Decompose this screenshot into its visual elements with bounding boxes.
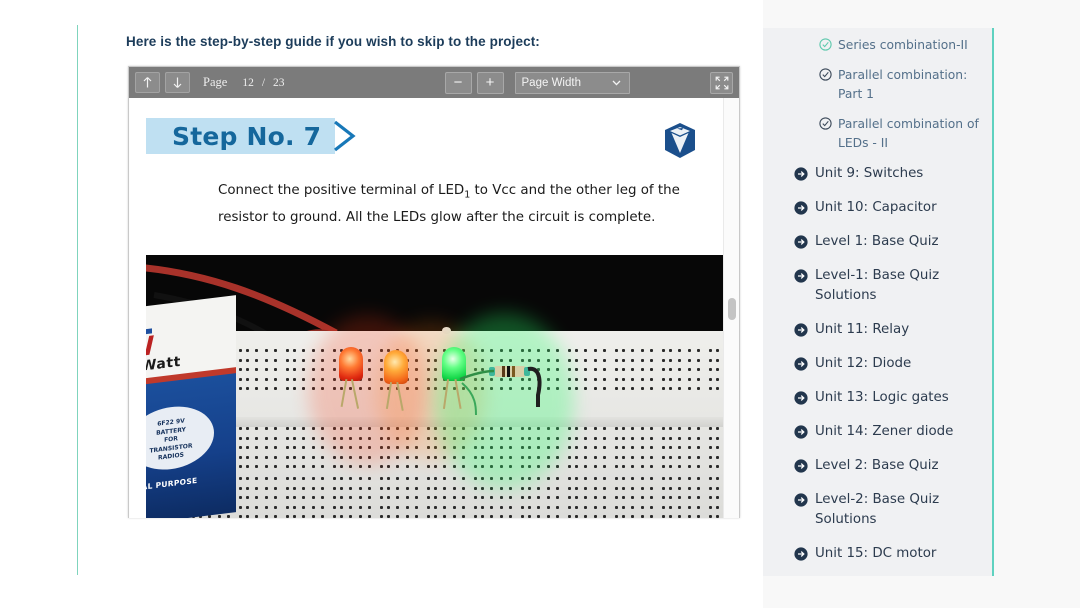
total-page-count: 23 (273, 77, 285, 89)
sidebar-unit-item-9[interactable]: Level-2: Base Quiz Solutions (763, 490, 992, 530)
sidebar-subitem-1[interactable]: Parallel combination: Part 1 (763, 66, 992, 104)
pdf-toolbar: Page 12 / 23 − + Page Width (129, 67, 739, 98)
chevron-right-icon (333, 118, 363, 154)
sidebar-unit-label: Level-2: Base Quiz Solutions (815, 490, 978, 530)
sidebar-unit-item-6[interactable]: Unit 13: Logic gates (763, 388, 992, 408)
page-separator: / (262, 77, 265, 89)
check-circle-icon (819, 68, 832, 81)
sidebar-unit-label: Unit 12: Diode (815, 354, 911, 374)
course-outline-sidebar[interactable]: Series combination-IIParallel combinatio… (763, 28, 994, 576)
check-circle-icon (819, 117, 832, 130)
arrow-right-circle-icon (794, 201, 808, 215)
step-description: Connect the positive terminal of LED1 to… (218, 180, 688, 229)
sidebar-unit-item-2[interactable]: Level 1: Base Quiz (763, 232, 992, 252)
left-accent-rule (77, 25, 78, 575)
arrow-right-circle-icon (794, 235, 808, 249)
arrow-right-circle-icon (794, 425, 808, 439)
sidebar-unit-label: Unit 10: Capacitor (815, 198, 937, 218)
arrow-right-circle-icon (794, 391, 808, 405)
zoom-level-select[interactable]: Page Width (515, 72, 630, 94)
sidebar-unit-item-7[interactable]: Unit 14: Zener diode (763, 422, 992, 442)
sidebar-unit-item-5[interactable]: Unit 12: Diode (763, 354, 992, 374)
page-label: Page (203, 75, 227, 90)
sidebar-unit-item-8[interactable]: Level 2: Base Quiz (763, 456, 992, 476)
next-page-button[interactable] (165, 72, 190, 93)
fullscreen-button[interactable] (710, 72, 733, 94)
breadboard-photo: W i-Watt 6F22 9V BATTERY FOR TRANSISTOR … (146, 255, 724, 518)
step-title: Step No. 7 (172, 122, 321, 151)
arrow-right-circle-icon (794, 323, 808, 337)
sidebar-unit-label: Unit 15: DC motor (815, 544, 936, 564)
sidebar-unit-label: Unit 11: Relay (815, 320, 909, 340)
sidebar-unit-item-3[interactable]: Level-1: Base Quiz Solutions (763, 266, 992, 306)
previous-page-button[interactable] (135, 72, 160, 93)
step-description-prefix: Connect the positive terminal of LED (218, 183, 464, 198)
zoom-in-button[interactable]: + (477, 72, 504, 94)
sidebar-subitem-label: Parallel combination: Part 1 (838, 66, 980, 104)
chevron-down-icon (612, 78, 621, 88)
sidebar-unit-item-0[interactable]: Unit 9: Switches (763, 164, 992, 184)
pdf-viewer: Page 12 / 23 − + Page Width (128, 66, 740, 518)
battery-9v: W i-Watt 6F22 9V BATTERY FOR TRANSISTOR … (146, 295, 236, 518)
cube-logo (663, 122, 697, 159)
sidebar-subitem-0[interactable]: Series combination-II (763, 36, 992, 55)
current-page-number[interactable]: 12 (242, 77, 254, 89)
arrow-right-circle-icon (794, 357, 808, 371)
pdf-scrollbar[interactable] (723, 98, 739, 518)
sidebar-unit-item-10[interactable]: Unit 15: DC motor (763, 544, 992, 564)
sidebar-subitem-2[interactable]: Parallel combination of LEDs - II (763, 115, 992, 153)
pdf-body: Step No. 7 (129, 98, 739, 518)
arrow-right-circle-icon (794, 547, 808, 561)
sidebar-subitem-label: Series combination-II (838, 36, 968, 55)
main-content-column: Here is the step-by-step guide if you wi… (0, 0, 763, 608)
sidebar-sub-list: Series combination-IIParallel combinatio… (763, 36, 992, 153)
arrow-right-circle-icon (794, 459, 808, 473)
sidebar-subitem-label: Parallel combination of LEDs - II (838, 115, 980, 153)
arrow-right-circle-icon (794, 167, 808, 181)
pdf-scrollbar-thumb[interactable] (728, 298, 736, 320)
sidebar-unit-label: Unit 9: Switches (815, 164, 923, 184)
arrow-right-circle-icon (794, 493, 808, 507)
zoom-level-value: Page Width (522, 77, 581, 89)
zoom-out-button[interactable]: − (445, 72, 472, 94)
sidebar-unit-item-4[interactable]: Unit 11: Relay (763, 320, 992, 340)
sidebar-unit-item-1[interactable]: Unit 10: Capacitor (763, 198, 992, 218)
sidebar-unit-label: Level 2: Base Quiz (815, 456, 939, 476)
step-banner: Step No. 7 (146, 118, 363, 154)
sidebar-unit-list: Unit 9: SwitchesUnit 10: CapacitorLevel … (763, 164, 992, 576)
sidebar-unit-label: Unit 14: Zener diode (815, 422, 953, 442)
sidebar-unit-label: Level-1: Base Quiz Solutions (815, 266, 978, 306)
step-title-bar: Step No. 7 (146, 118, 335, 154)
sidebar-unit-label: Level 1: Base Quiz (815, 232, 939, 252)
arrow-right-circle-icon (794, 269, 808, 283)
check-circle-icon (819, 38, 832, 51)
page-root: Here is the step-by-step guide if you wi… (0, 0, 1080, 608)
pdf-page-canvas: Step No. 7 (130, 98, 724, 518)
intro-heading: Here is the step-by-step guide if you wi… (126, 34, 540, 49)
sidebar-unit-label: Unit 13: Logic gates (815, 388, 949, 408)
